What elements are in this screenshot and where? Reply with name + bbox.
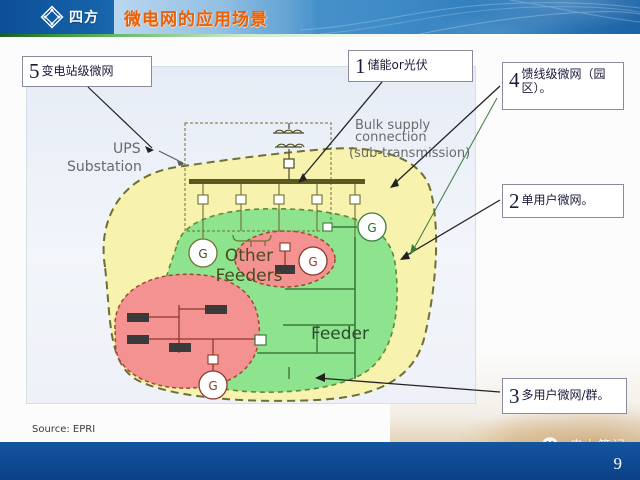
source-label: Source: EPRI	[32, 424, 95, 435]
brand-name: 四方	[69, 7, 99, 27]
multi-customer-breaker	[208, 355, 218, 364]
page-number: 9	[614, 454, 623, 474]
ups-label-line1: UPS	[113, 141, 141, 157]
callout-number: 2	[509, 189, 520, 213]
feeder-generator-breaker	[323, 223, 332, 231]
single-customer-breaker	[280, 243, 290, 251]
callout-number: 5	[29, 59, 40, 83]
page-title: 微电网的应用场景	[124, 5, 268, 30]
bulk-supply-line3: (sub-transmission)	[349, 146, 470, 161]
callout-single-customer-microgrid[interactable]: 2 单用户微网。	[502, 184, 624, 218]
brand-logo: 四方	[40, 3, 99, 31]
pcc-breaker	[255, 335, 266, 345]
generator-label: G	[367, 221, 376, 235]
microgrid-schematic: G G G	[27, 67, 476, 404]
multi-customer-microgrid-zone	[115, 274, 260, 388]
bulk-supply-line2: connection	[355, 130, 427, 145]
callout-text: 变电站级微网	[42, 65, 114, 79]
callout-number: 3	[509, 384, 520, 408]
footer-bar	[0, 442, 640, 480]
other-feeders-line2: Feeders	[216, 266, 283, 286]
header-swoosh-icon	[300, 0, 640, 34]
callout-text: 储能or光伏	[368, 59, 428, 73]
feeder-label: Feeder	[311, 324, 369, 344]
callout-number: 1	[355, 54, 366, 78]
generator-label: G	[308, 255, 317, 269]
generator-label: G	[198, 247, 207, 261]
other-feeders-line1: Other	[225, 246, 273, 266]
callout-substation-microgrid[interactable]: 5 变电站级微网	[22, 56, 152, 87]
slide-canvas: 四方 微电网的应用场景	[0, 0, 640, 480]
callout-text: 馈线级微网（园区）。	[522, 68, 618, 96]
callout-number: 4	[509, 68, 520, 92]
callout-storage-or-pv[interactable]: 1 储能or光伏	[348, 50, 473, 82]
ups-label-line2: Substation	[67, 159, 142, 175]
callout-feeder-microgrid[interactable]: 4 馈线级微网（园区）。	[502, 62, 624, 110]
diamond-compass-icon	[40, 5, 64, 29]
transformer-breaker	[284, 159, 294, 168]
title-plate: 微电网的应用场景	[114, 0, 314, 34]
generator-label: G	[208, 379, 217, 393]
callout-text: 单用户微网。	[522, 194, 594, 208]
callout-multi-customer-microgrid[interactable]: 3 多用户微网/群。	[502, 378, 627, 414]
slide-header: 四方 微电网的应用场景	[0, 0, 640, 34]
microgrid-diagram: G G G	[26, 66, 476, 404]
callout-text: 多用户微网/群。	[522, 389, 610, 403]
main-busbar	[189, 179, 365, 184]
